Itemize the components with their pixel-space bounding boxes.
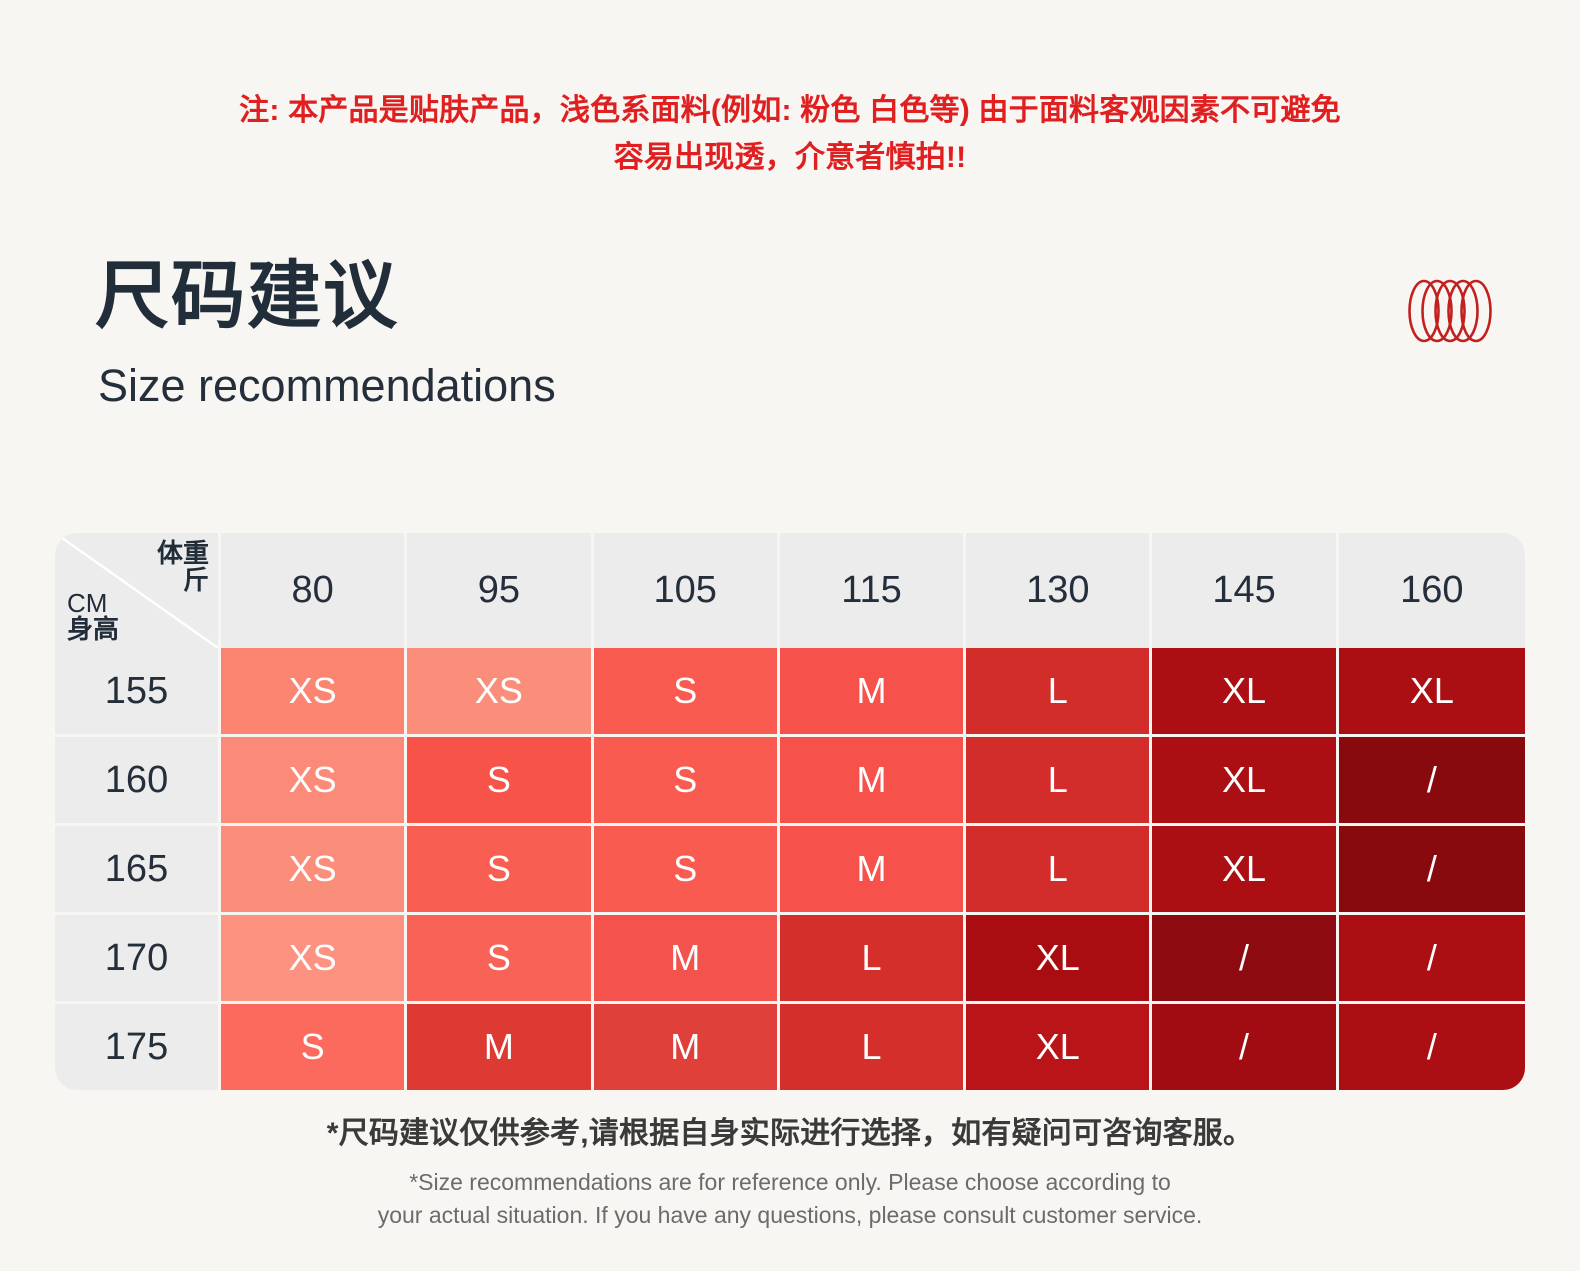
size-cell-170-115: L (780, 915, 966, 1004)
page-title: 尺码建议 (95, 259, 399, 333)
weight-header-130: 130 (966, 533, 1152, 648)
weight-header-105: 105 (594, 533, 780, 648)
axis-corner-cell: 体重 斤 CM 身高 (55, 533, 221, 648)
size-recommendation-table: 体重 斤 CM 身高 80 95 105 115 130 145 160 (55, 533, 1525, 1090)
size-cell-165-95: S (407, 826, 593, 915)
weight-header-95: 95 (407, 533, 593, 648)
size-cell-175-105: M (594, 1004, 780, 1090)
weight-header-80: 80 (221, 533, 407, 648)
footer-note-cn: *尺码建议仅供参考,请根据自身实际进行选择，如有疑问可咨询客服。 (0, 1108, 1580, 1152)
size-cell-160-145: XL (1152, 737, 1338, 826)
weight-header-115: 115 (780, 533, 966, 648)
size-cell-170-130: XL (966, 915, 1152, 1004)
size-cell-155-130: L (966, 648, 1152, 737)
page-subtitle: Size recommendations (98, 363, 556, 408)
size-cell-155-105: S (594, 648, 780, 737)
size-cell-155-95: XS (407, 648, 593, 737)
size-cell-165-80: XS (221, 826, 407, 915)
weight-header-145: 145 (1152, 533, 1338, 648)
weight-axis-label: 体重 斤 (157, 540, 209, 593)
weight-header-160: 160 (1339, 533, 1525, 648)
size-cell-160-95: S (407, 737, 593, 826)
footer-note-en-line1: *Size recommendations are for reference … (0, 1166, 1580, 1199)
size-cell-155-80: XS (221, 648, 407, 737)
size-cell-175-80: S (221, 1004, 407, 1090)
table-row: 175 S M M L XL / / (55, 1004, 1525, 1090)
size-cell-165-145: XL (1152, 826, 1338, 915)
size-cell-155-160: XL (1339, 648, 1525, 737)
size-cell-175-115: L (780, 1004, 966, 1090)
table-body: 155 XS XS S M L XL XL 160 XS S S M L XL … (55, 648, 1525, 1090)
table-row: 165 XS S S M L XL / (55, 826, 1525, 915)
size-cell-165-130: L (966, 826, 1152, 915)
size-cell-170-145: / (1152, 915, 1338, 1004)
height-axis-text: 身高 (67, 616, 119, 643)
size-chart-table-wrapper: 体重 斤 CM 身高 80 95 105 115 130 145 160 (55, 533, 1525, 1090)
size-cell-175-145: / (1152, 1004, 1338, 1090)
height-axis-unit: CM (67, 588, 107, 618)
height-label-170: 170 (55, 915, 221, 1004)
table-row: 170 XS S M L XL / / (55, 915, 1525, 1004)
size-cell-155-145: XL (1152, 648, 1338, 737)
size-cell-170-95: S (407, 915, 593, 1004)
size-cell-160-115: M (780, 737, 966, 826)
height-axis-label: CM 身高 (67, 590, 119, 643)
size-cell-170-80: XS (221, 915, 407, 1004)
height-label-155: 155 (55, 648, 221, 737)
size-cell-170-105: M (594, 915, 780, 1004)
heading-block: 尺码建议 Size recommendations (55, 181, 1525, 356)
size-cell-160-160: / (1339, 737, 1525, 826)
size-cell-160-105: S (594, 737, 780, 826)
table-header-row: 体重 斤 CM 身高 80 95 105 115 130 145 160 (55, 533, 1525, 648)
size-cell-175-160: / (1339, 1004, 1525, 1090)
table-row: 155 XS XS S M L XL XL (55, 648, 1525, 737)
height-label-165: 165 (55, 826, 221, 915)
warning-line-2: 容易出现透，介意者慎拍!! (125, 135, 1455, 182)
size-cell-160-80: XS (221, 737, 407, 826)
height-label-175: 175 (55, 1004, 221, 1090)
brand-rings-logo (1405, 275, 1497, 347)
size-cell-155-115: M (780, 648, 966, 737)
warning-line-1: 注: 本产品是贴肤产品，浅色系面料(例如: 粉色 白色等) 由于面料客观因素不可… (125, 88, 1455, 135)
product-warning-note: 注: 本产品是贴肤产品，浅色系面料(例如: 粉色 白色等) 由于面料客观因素不可… (125, 0, 1455, 181)
height-label-160: 160 (55, 737, 221, 826)
weight-axis-unit: 斤 (157, 567, 209, 594)
footer-note-en-line2: your actual situation. If you have any q… (0, 1199, 1580, 1232)
size-cell-160-130: L (966, 737, 1152, 826)
footer-disclaimer: *尺码建议仅供参考,请根据自身实际进行选择，如有疑问可咨询客服。 *Size r… (0, 1108, 1580, 1231)
weight-axis-text: 体重 (157, 538, 209, 568)
table-row: 160 XS S S M L XL / (55, 737, 1525, 826)
size-cell-170-160: / (1339, 915, 1525, 1004)
size-cell-165-160: / (1339, 826, 1525, 915)
size-cell-175-130: XL (966, 1004, 1152, 1090)
size-cell-175-95: M (407, 1004, 593, 1090)
size-cell-165-115: M (780, 826, 966, 915)
size-cell-165-105: S (594, 826, 780, 915)
